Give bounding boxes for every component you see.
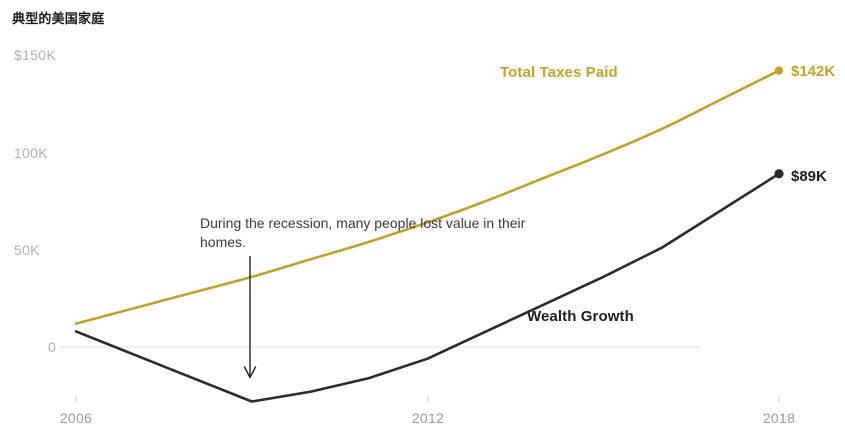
series-label-total-taxes-paid: Total Taxes Paid — [500, 64, 618, 81]
end-value-total-taxes-paid: $142K — [791, 63, 835, 80]
series-label-wealth-growth: Wealth Growth — [527, 308, 634, 325]
chart-container: 典型的美国家庭 $150K 100K 50K 0 2006 2012 2018 … — [0, 0, 845, 440]
recession-annotation-text: During the recession, many people lost v… — [200, 214, 575, 252]
endpoint-marker-total-taxes-paid — [775, 66, 783, 74]
series-line-total-taxes-paid — [76, 71, 779, 324]
endpoint-marker-wealth-growth — [774, 169, 783, 178]
end-value-wealth-growth: $89K — [791, 168, 827, 185]
annotation-arrow — [245, 256, 256, 378]
series-line-wealth-growth — [76, 174, 779, 402]
